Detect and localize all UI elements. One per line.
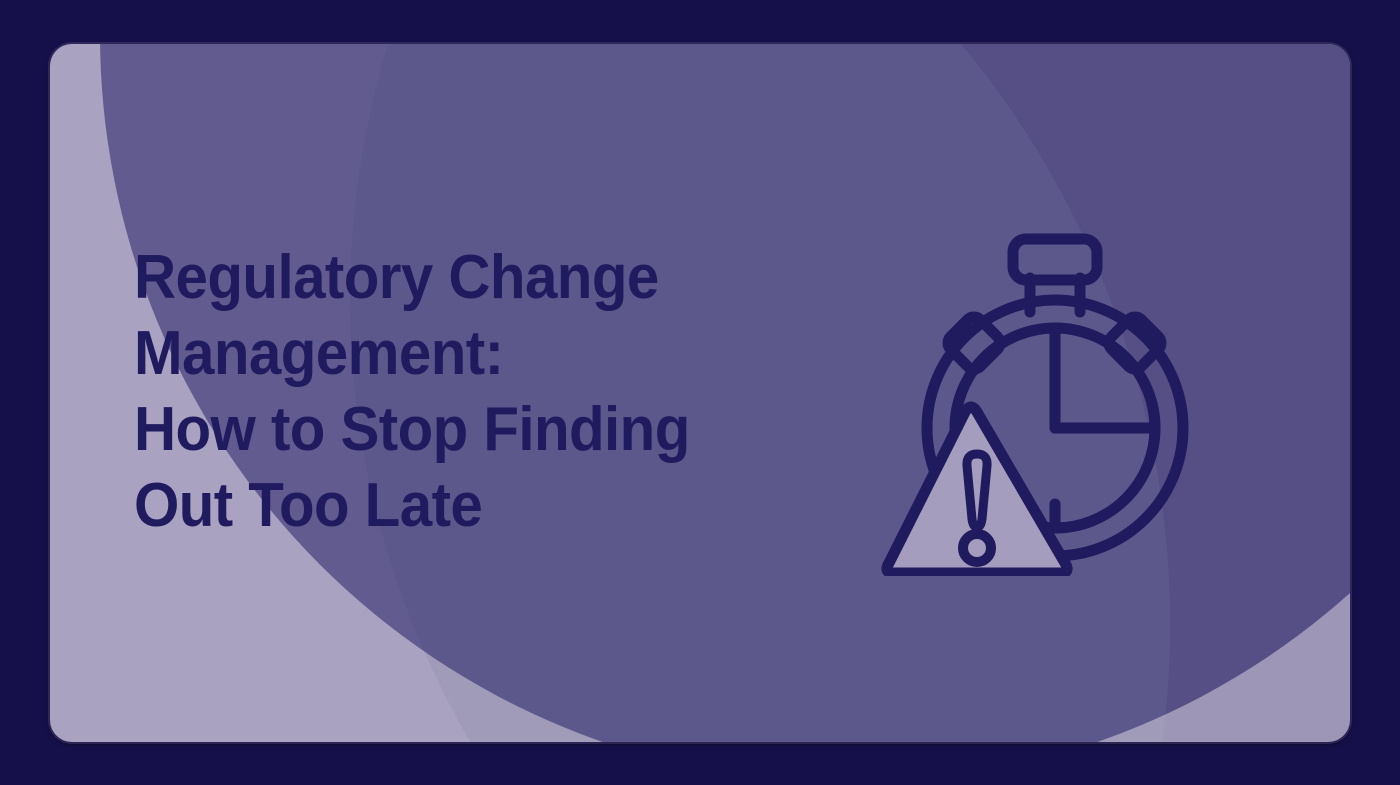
title-line-4: Out Too Late xyxy=(134,468,848,544)
title-line-3: How to Stop Finding xyxy=(134,392,848,468)
content-card: Regulatory Change Management: How to Sto… xyxy=(50,44,1350,742)
title-line-2: Management: xyxy=(134,316,848,392)
page-title: Regulatory Change Management: How to Sto… xyxy=(134,240,894,544)
warning-triangle-icon xyxy=(887,407,1067,573)
slide-root: Regulatory Change Management: How to Sto… xyxy=(0,0,1400,785)
stopwatch-warning-icon xyxy=(880,216,1230,576)
title-line-1: Regulatory Change xyxy=(134,240,848,316)
